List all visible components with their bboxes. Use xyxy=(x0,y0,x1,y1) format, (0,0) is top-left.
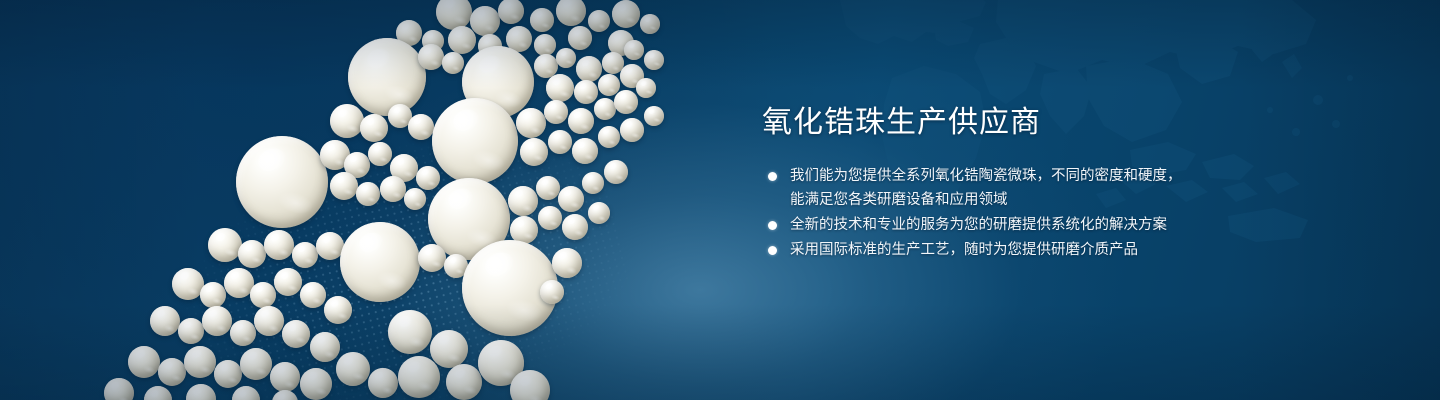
banner-copy: 氧化锆珠生产供应商 我们能为您提供全系列氧化锆陶瓷微珠，不同的密度和硬度， 能满… xyxy=(762,104,1232,263)
feature-list: 我们能为您提供全系列氧化锆陶瓷微珠，不同的密度和硬度， 能满足您各类研磨设备和应… xyxy=(762,164,1232,262)
list-item-line-1: 全新的技术和专业的服务为您的研磨提供系统化的解决方案 xyxy=(790,217,1167,233)
bullet-dot-icon xyxy=(768,221,777,230)
bullet-dot-icon xyxy=(768,246,777,255)
list-item: 全新的技术和专业的服务为您的研磨提供系统化的解决方案 xyxy=(762,213,1232,237)
list-item-line-1: 我们能为您提供全系列氧化锆陶瓷微珠，不同的密度和硬度， xyxy=(790,168,1182,184)
bullet-dot-icon xyxy=(768,172,777,181)
list-item-line-1: 采用国际标准的生产工艺，随时为您提供研磨介质产品 xyxy=(790,242,1138,258)
list-item: 采用国际标准的生产工艺，随时为您提供研磨介质产品 xyxy=(762,238,1232,262)
hero-banner: 氧化锆珠生产供应商 我们能为您提供全系列氧化锆陶瓷微珠，不同的密度和硬度， 能满… xyxy=(0,0,1440,400)
list-item: 我们能为您提供全系列氧化锆陶瓷微珠，不同的密度和硬度， 能满足您各类研磨设备和应… xyxy=(762,164,1232,212)
page-title: 氧化锆珠生产供应商 xyxy=(762,104,1232,142)
list-item-line-2: 能满足您各类研磨设备和应用领域 xyxy=(790,188,1232,212)
